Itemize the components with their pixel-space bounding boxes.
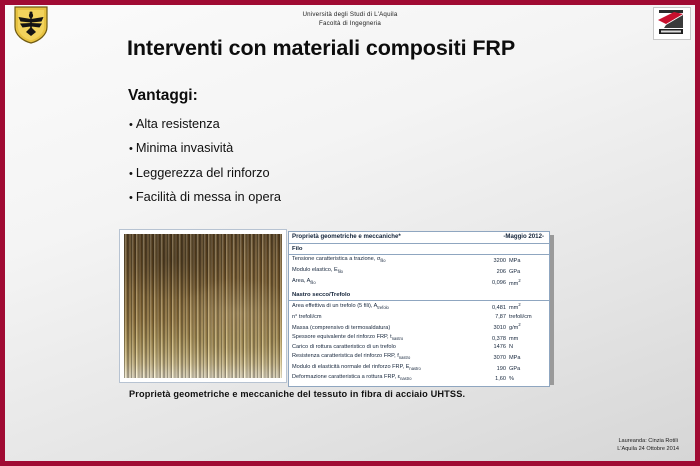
property-label: n° trefoli/cm bbox=[289, 313, 481, 322]
table-row: Carico di rottura caratteristico di un t… bbox=[289, 343, 549, 352]
table-title: Proprietà geometriche e meccaniche* bbox=[289, 232, 481, 243]
table-section-row: Nastro secco/Trefolo bbox=[289, 290, 549, 301]
table-row: Modulo elastico, Efilo206GPa bbox=[289, 266, 549, 277]
property-unit: mm2 bbox=[506, 277, 549, 290]
property-unit: GPa bbox=[506, 363, 549, 374]
bullet-item-4: •Facilità di messa in opera bbox=[129, 189, 281, 204]
bullet-text-3: Leggerezza del rinforzo bbox=[136, 165, 270, 180]
presentation-slide: Università degli Studi di L'Aquila Facol… bbox=[0, 0, 700, 466]
property-value: 1476 bbox=[481, 343, 506, 352]
bullet-item-2: •Minima invasività bbox=[129, 140, 233, 155]
figure-caption: Proprietà geometriche e meccaniche del t… bbox=[129, 389, 465, 399]
property-value: 0,481 bbox=[481, 301, 506, 313]
property-unit: % bbox=[506, 373, 549, 385]
bullet-item-3: •Leggerezza del rinforzo bbox=[129, 165, 270, 180]
table-row: Area, Afilo0,096mm2 bbox=[289, 277, 549, 290]
property-value: 0,378 bbox=[481, 333, 506, 344]
property-value: 7,87 bbox=[481, 313, 506, 322]
table-row: Massa (comprensivo di termosaldatura)301… bbox=[289, 321, 549, 332]
section-heading-vantaggi: Vantaggi: bbox=[128, 87, 198, 105]
table-row: Deformazione caratteristica a rottura FR… bbox=[289, 373, 549, 385]
property-unit: trefoli/cm bbox=[506, 313, 549, 322]
properties-table-container: Proprietà geometriche e meccaniche*-Magg… bbox=[288, 231, 550, 387]
bullet-marker-icon: • bbox=[129, 143, 133, 155]
property-value: 3200 bbox=[481, 255, 506, 266]
table-row: Tensione caratteristica a trazione, σfil… bbox=[289, 255, 549, 266]
property-unit: MPa bbox=[506, 352, 549, 363]
slide-title: Interventi con materiali compositi FRP bbox=[127, 36, 515, 61]
property-unit: mm2 bbox=[506, 301, 549, 313]
property-label: Massa (comprensivo di termosaldatura) bbox=[289, 321, 481, 332]
property-label: Deformazione caratteristica a rottura FR… bbox=[289, 373, 481, 385]
property-label: Resistenza caratteristica del rinforzo F… bbox=[289, 352, 481, 363]
property-label: Modulo elastico, Efilo bbox=[289, 266, 481, 277]
table-header-row: Proprietà geometriche e meccaniche*-Magg… bbox=[289, 232, 549, 243]
table-row: Resistenza caratteristica del rinforzo F… bbox=[289, 352, 549, 363]
fabric-photo-frame bbox=[119, 229, 287, 383]
bullet-text-4: Facilità di messa in opera bbox=[136, 189, 281, 204]
property-value: 3070 bbox=[481, 352, 506, 363]
table-section-label: Nastro secco/Trefolo bbox=[289, 290, 549, 301]
bullet-item-1: •Alta resistenza bbox=[129, 116, 220, 131]
property-label: Area, Afilo bbox=[289, 277, 481, 290]
slide-footer: Laureanda: Cinzia Rotili L'Aquila 24 Ott… bbox=[617, 437, 679, 453]
faculty-name: Facoltà di Ingegneria bbox=[5, 19, 695, 28]
property-unit: N bbox=[506, 343, 549, 352]
property-value: 206 bbox=[481, 266, 506, 277]
bullet-text-1: Alta resistenza bbox=[136, 116, 220, 131]
table-section-label: Filo bbox=[289, 243, 549, 255]
table-row: n° trefoli/cm7,87trefoli/cm bbox=[289, 313, 549, 322]
property-unit: MPa bbox=[506, 255, 549, 266]
property-unit: mm bbox=[506, 333, 549, 344]
footer-author: Laureanda: Cinzia Rotili bbox=[617, 437, 679, 445]
properties-table: Proprietà geometriche e meccaniche*-Magg… bbox=[289, 232, 549, 386]
bullet-marker-icon: • bbox=[129, 168, 133, 180]
bullet-marker-icon: • bbox=[129, 119, 133, 131]
table-row: Spessore equivalente del rinforzo FRP, t… bbox=[289, 333, 549, 344]
property-value: 0,096 bbox=[481, 277, 506, 290]
property-label: Spessore equivalente del rinforzo FRP, t… bbox=[289, 333, 481, 344]
table-row: Modulo di elasticità normale del rinforz… bbox=[289, 363, 549, 374]
property-label: Area effettiva di un trefolo (5 fili), A… bbox=[289, 301, 481, 313]
property-value: 1,60 bbox=[481, 373, 506, 385]
steel-fibre-fabric-photo bbox=[124, 234, 282, 378]
property-label: Carico di rottura caratteristico di un t… bbox=[289, 343, 481, 352]
university-header: Università degli Studi di L'Aquila Facol… bbox=[5, 10, 695, 28]
university-name: Università degli Studi di L'Aquila bbox=[5, 10, 695, 19]
table-row: Area effettiva di un trefolo (5 fili), A… bbox=[289, 301, 549, 313]
property-label: Tensione caratteristica a trazione, σfil… bbox=[289, 255, 481, 266]
property-value: 190 bbox=[481, 363, 506, 374]
property-label: Modulo di elasticità normale del rinforz… bbox=[289, 363, 481, 374]
footer-place-date: L'Aquila 24 Ottobre 2014 bbox=[617, 445, 679, 453]
table-section-row: Filo bbox=[289, 243, 549, 255]
bullet-text-2: Minima invasività bbox=[136, 140, 233, 155]
property-unit: g/m2 bbox=[506, 321, 549, 332]
property-unit: GPa bbox=[506, 266, 549, 277]
bullet-marker-icon: • bbox=[129, 192, 133, 204]
property-value: 3010 bbox=[481, 321, 506, 332]
table-date: -Maggio 2012- bbox=[481, 232, 549, 243]
